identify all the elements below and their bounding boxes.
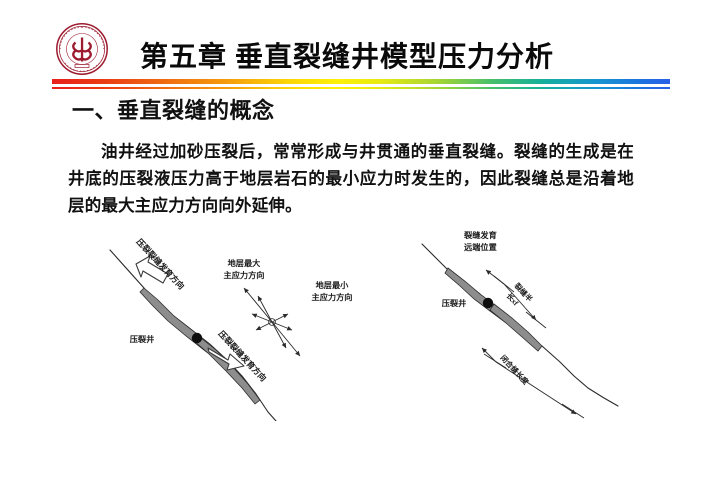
gradient-divider-thin [52,87,670,89]
closed-length-dimension [482,348,584,418]
figure-area: 压裂井 压裂裂缝发育方向 压裂裂缝发育方向 [0,226,702,426]
gradient-divider-thick [52,79,670,84]
fracture-trace-lower-right [542,346,618,406]
section-heading: 一、垂直裂缝的概念 [72,96,275,126]
fracture-tip-label-line2: 远端位置 [464,242,497,252]
fractured-well-marker-right [483,298,493,308]
half-length-label-line2: 长xf [505,291,521,307]
fractured-well-marker [192,333,202,343]
body-paragraph: 油井经过加砂压裂后，常常形成与井贯通的垂直裂缝。裂缝的生成是在井底的压裂液压力高… [68,138,634,219]
lower-growth-direction-label: 压裂裂缝发育方向 [217,329,269,384]
closed-length-label: 闭合缝长度 [499,353,531,387]
principal-stress-rose-icon [244,288,300,356]
min-principal-stress-label-line1: 地层最小 [316,280,350,290]
min-principal-stress-label-line2: 主应力方向 [312,292,353,302]
well-label: 压裂井 [130,334,155,344]
fracture-tip-label-line1: 裂缝发育 [463,230,497,240]
max-principal-stress-label-line2: 主应力方向 [224,270,265,280]
slide-title: 第五章 垂直裂缝井模型压力分析 [140,36,610,80]
fracture-orientation-diagram: 压裂井 压裂裂缝发育方向 压裂裂缝发育方向 [92,226,377,421]
max-principal-stress-label-line1: 地层最大 [228,258,262,268]
slide-canvas: 第五章 垂直裂缝井模型压力分析 一、垂直裂缝的概念 油井经过加砂压裂后，常常形成… [0,0,702,496]
fracture-half-length-diagram: 压裂井 裂缝发育 远端位置 裂缝半 长xf 闭合缝长度 [418,226,668,421]
fracture-body-lower-right [490,304,542,351]
university-logo-svg [55,22,109,76]
university-logo [55,22,109,76]
well-label-right: 压裂井 [442,298,467,308]
